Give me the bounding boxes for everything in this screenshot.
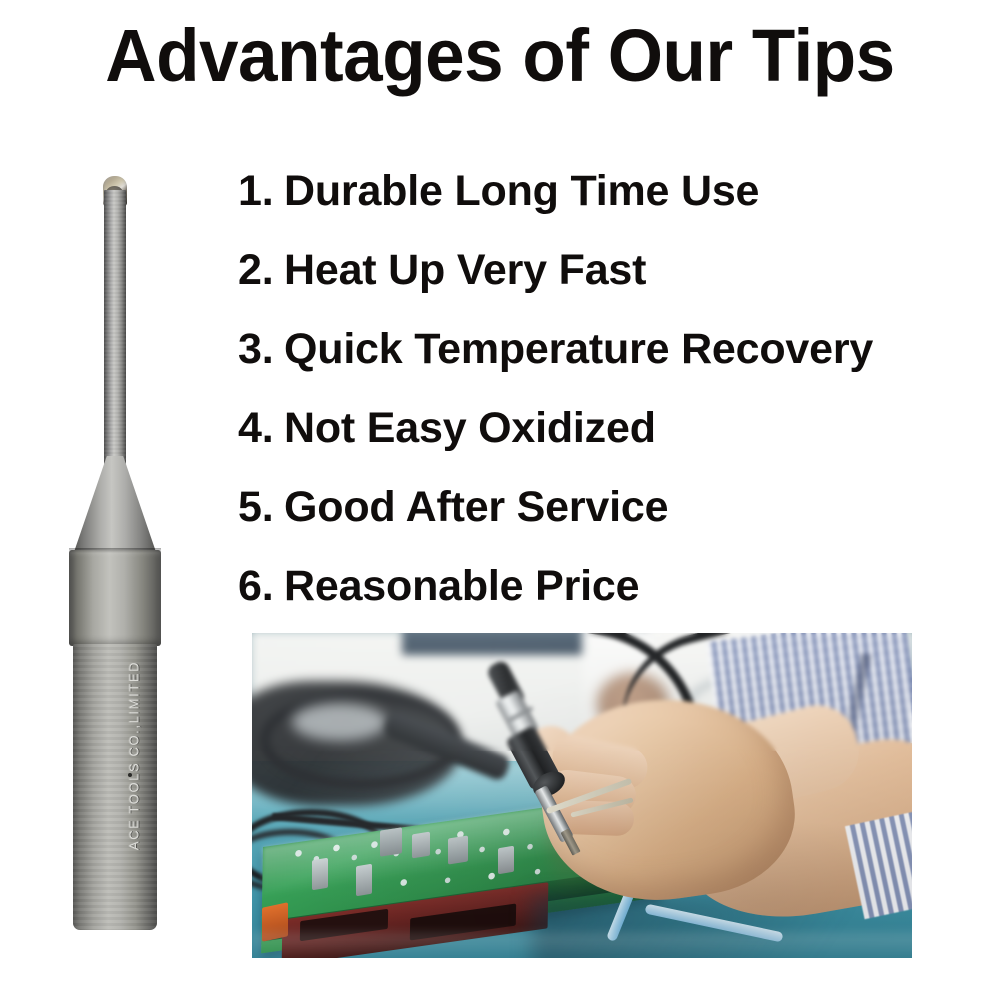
photo-pcb-component: [448, 835, 468, 864]
list-item: 2.Heat Up Very Fast: [238, 231, 1000, 310]
tip-surface-speck: [128, 773, 132, 777]
tip-cone-transition: [74, 456, 156, 552]
list-item-label: Reasonable Price: [284, 562, 639, 610]
list-item-number: 1.: [238, 152, 284, 231]
list-item-number: 6.: [238, 547, 284, 626]
photo-mat-sheen: [252, 933, 912, 958]
list-item-label: Heat Up Very Fast: [284, 246, 646, 294]
list-item-label: Quick Temperature Recovery: [284, 325, 873, 373]
list-item-number: 3.: [238, 310, 284, 389]
list-item-number: 5.: [238, 468, 284, 547]
photo-equipment-highlight: [292, 703, 387, 741]
list-item: 1.Durable Long Time Use: [238, 152, 1000, 231]
list-item-label: Good After Service: [284, 483, 668, 531]
photo-pcb-component: [380, 827, 402, 856]
list-item: 4.Not Easy Oxidized: [238, 389, 1000, 468]
tip-barrel: [73, 644, 157, 930]
poster-canvas: Advantages of Our Tips ACE TOOLS CO.,LIM…: [0, 0, 1000, 1000]
list-item-label: Not Easy Oxidized: [284, 404, 656, 452]
tip-shaft: [104, 190, 126, 464]
list-item: 3.Quick Temperature Recovery: [238, 310, 1000, 389]
product-tip-figure: ACE TOOLS CO.,LIMITED: [36, 168, 196, 938]
list-item-label: Durable Long Time Use: [284, 167, 759, 215]
tip-collar-ferrule: [69, 550, 161, 646]
photo-pcb-component: [412, 832, 430, 859]
advantages-list: 1.Durable Long Time Use 2.Heat Up Very F…: [238, 152, 1000, 626]
photo-pcb-component: [498, 846, 514, 875]
page-title: Advantages of Our Tips: [20, 16, 980, 96]
list-item: 6.Reasonable Price: [238, 547, 1000, 626]
list-item: 5.Good After Service: [238, 468, 1000, 547]
soldering-workbench-photo: [252, 633, 912, 958]
list-item-number: 2.: [238, 231, 284, 310]
photo-pcb-component: [356, 864, 372, 897]
list-item-number: 4.: [238, 389, 284, 468]
photo-pcb-component: [312, 858, 328, 891]
